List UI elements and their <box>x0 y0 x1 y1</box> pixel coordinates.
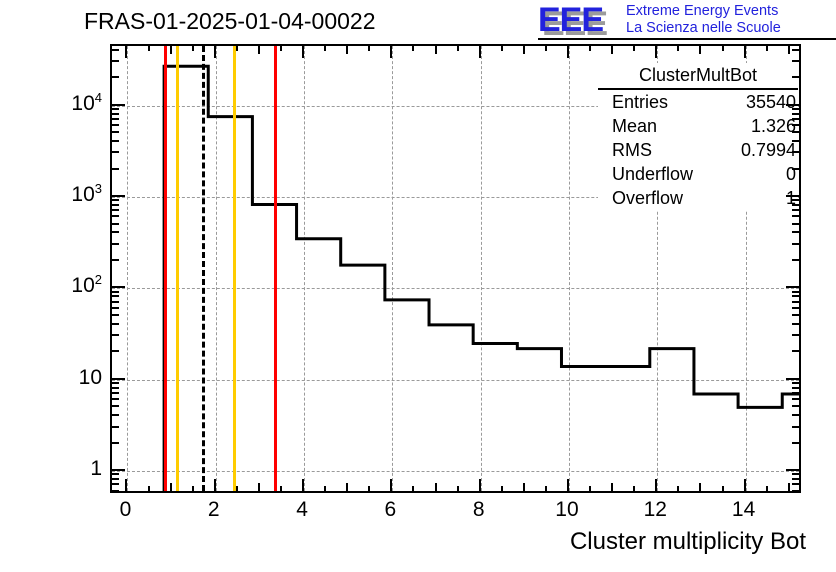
x-tick-label: 6 <box>385 499 397 521</box>
stats-row-key: Mean <box>612 115 657 137</box>
x-tick-top-minor <box>258 45 260 54</box>
eee-logo: EEE EEE Extreme Energy Events La Scienza… <box>538 2 834 38</box>
x-tick-top-minor <box>545 45 547 51</box>
y-tick-right-minor <box>792 398 800 400</box>
x-tick-top-minor <box>435 45 437 54</box>
y-tick-major <box>111 195 125 197</box>
y-tick-label-exponent: 3 <box>95 181 102 196</box>
x-tick-top-major <box>214 45 216 58</box>
x-tick-label: 0 <box>120 499 132 521</box>
stats-row-value: 0 <box>786 163 796 185</box>
y-tick-right-minor <box>792 442 800 444</box>
y-tick-minor <box>111 473 119 475</box>
y-tick-minor <box>111 334 119 336</box>
x-tick-minor <box>611 483 613 492</box>
y-tick-right-minor <box>792 259 800 261</box>
x-tick-major <box>125 479 127 492</box>
x-tick-top-minor <box>170 45 172 54</box>
x-tick-minor <box>766 486 768 492</box>
x-tick-top-minor <box>501 45 503 51</box>
x-tick-minor <box>258 483 260 492</box>
stats-row-key: Overflow <box>612 187 683 209</box>
y-tick-right-major <box>786 286 800 288</box>
y-tick-right-minor <box>792 291 800 293</box>
x-tick-top-major <box>655 45 657 58</box>
eee-logo-line1: Extreme Energy Events <box>626 3 781 20</box>
y-tick-right-minor <box>792 473 800 475</box>
marker-orange-right <box>233 46 236 491</box>
y-tick-right-minor <box>792 490 800 492</box>
y-tick-right-minor <box>792 168 800 170</box>
x-tick-top-major <box>302 45 304 58</box>
x-tick-top-minor <box>523 45 525 54</box>
stats-row: RMS0.7994 <box>598 138 798 162</box>
y-tick-major <box>111 469 125 471</box>
y-tick-label: 102 <box>71 275 102 297</box>
y-tick-minor <box>111 478 119 480</box>
y-tick-label-base: 10 <box>71 92 94 115</box>
y-tick-right-minor <box>792 350 800 352</box>
y-tick-label: 103 <box>71 184 102 206</box>
stats-row-key: Entries <box>612 91 668 113</box>
eee-logo-text: Extreme Energy Events La Scienza nelle S… <box>626 3 781 37</box>
y-tick-minor <box>111 398 119 400</box>
x-tick-label: 4 <box>296 499 308 521</box>
y-tick-major <box>111 104 125 106</box>
x-tick-major <box>744 479 746 492</box>
y-tick-right-minor <box>792 223 800 225</box>
eee-logo-mark: EEE EEE <box>538 4 618 36</box>
x-tick-top-minor <box>611 45 613 54</box>
x-tick-major <box>302 479 304 492</box>
y-tick-label: 104 <box>71 93 102 115</box>
y-tick-minor <box>111 60 119 62</box>
y-tick-right-major <box>786 104 800 106</box>
y-tick-minor <box>111 314 119 316</box>
y-tick-major <box>111 286 125 288</box>
x-tick-top-minor <box>148 45 150 51</box>
y-tick-label-base: 10 <box>71 183 94 206</box>
y-tick-right-minor <box>792 204 800 206</box>
x-tick-minor <box>324 486 326 492</box>
stats-row: Overflow1 <box>598 186 798 210</box>
x-tick-minor <box>457 486 459 492</box>
marker-mean-dashed <box>202 46 205 491</box>
x-tick-top-minor <box>699 45 701 54</box>
y-tick-right-major <box>786 195 800 197</box>
y-tick-minor <box>111 140 119 142</box>
y-tick-minor <box>111 350 119 352</box>
marker-red-right <box>274 46 277 491</box>
y-tick-right-minor <box>792 307 800 309</box>
y-tick-minor <box>111 243 119 245</box>
y-tick-minor <box>111 490 119 492</box>
x-tick-minor <box>501 486 503 492</box>
stats-row-value: 1.326 <box>751 115 796 137</box>
x-tick-minor <box>589 486 591 492</box>
y-tick-minor <box>111 295 119 297</box>
y-tick-right-minor <box>792 483 800 485</box>
x-tick-minor <box>192 486 194 492</box>
x-tick-top-major <box>479 45 481 58</box>
x-tick-minor <box>236 486 238 492</box>
stats-row-value: 0.7994 <box>741 139 796 161</box>
y-tick-right-minor <box>792 426 800 428</box>
x-tick-top-minor <box>766 45 768 51</box>
y-tick-minor <box>111 209 119 211</box>
x-tick-major <box>567 479 569 492</box>
x-tick-minor <box>280 486 282 492</box>
x-tick-minor <box>633 486 635 492</box>
x-tick-minor <box>368 486 370 492</box>
y-tick-minor <box>111 151 119 153</box>
stats-row: Underflow0 <box>598 162 798 186</box>
y-tick-right-minor <box>792 131 800 133</box>
y-tick-minor <box>111 405 119 407</box>
page-title: FRAS-01-2025-01-04-00022 <box>84 8 376 34</box>
x-tick-top-minor <box>788 45 790 54</box>
y-tick-right-minor <box>792 140 800 142</box>
y-tick-right-minor <box>792 478 800 480</box>
x-tick-top-major <box>390 45 392 58</box>
y-tick-minor <box>111 223 119 225</box>
x-tick-minor <box>148 486 150 492</box>
y-tick-right-minor <box>792 151 800 153</box>
y-tick-minor <box>111 307 119 309</box>
y-tick-right-minor <box>792 387 800 389</box>
x-tick-minor <box>788 483 790 492</box>
root-canvas: FRAS-01-2025-01-04-00022 EEE EEE Extreme… <box>0 0 836 572</box>
y-tick-right-minor <box>792 113 800 115</box>
x-tick-top-minor <box>368 45 370 51</box>
y-tick-right-minor <box>792 243 800 245</box>
x-tick-top-minor <box>589 45 591 51</box>
x-tick-minor <box>412 486 414 492</box>
x-tick-major <box>479 479 481 492</box>
x-tick-top-minor <box>324 45 326 51</box>
stats-row-value: 35540 <box>746 91 796 113</box>
x-tick-top-minor <box>677 45 679 51</box>
y-tick-right-minor <box>792 118 800 120</box>
y-tick-label-base: 10 <box>71 274 94 297</box>
y-tick-minor <box>111 387 119 389</box>
y-tick-minor <box>111 426 119 428</box>
x-tick-minor <box>545 486 547 492</box>
y-tick-right-minor <box>792 301 800 303</box>
y-tick-label: 10 <box>79 367 102 389</box>
y-tick-right-minor <box>792 414 800 416</box>
y-tick-right-minor <box>792 60 800 62</box>
y-tick-label: 1 <box>90 458 102 480</box>
y-tick-right-minor <box>792 209 800 211</box>
stats-row-key: RMS <box>612 139 652 161</box>
x-tick-minor <box>699 483 701 492</box>
y-tick-minor <box>111 215 119 217</box>
y-tick-minor <box>111 382 119 384</box>
y-tick-right-minor <box>792 334 800 336</box>
stats-row: Mean1.326 <box>598 114 798 138</box>
y-tick-minor <box>111 168 119 170</box>
x-tick-minor <box>722 486 724 492</box>
y-tick-minor <box>111 131 119 133</box>
y-tick-label-exponent: 2 <box>95 272 102 287</box>
y-tick-right-major <box>786 469 800 471</box>
x-tick-top-minor <box>192 45 194 51</box>
x-tick-major <box>655 479 657 492</box>
y-tick-right-minor <box>792 199 800 201</box>
y-tick-right-minor <box>792 323 800 325</box>
x-tick-minor <box>523 483 525 492</box>
y-tick-minor <box>111 113 119 115</box>
stats-box: ClusterMultBot Entries35540Mean1.326RMS0… <box>598 63 798 210</box>
x-tick-minor <box>170 483 172 492</box>
x-tick-top-major <box>744 45 746 58</box>
x-tick-top-minor <box>633 45 635 51</box>
stats-rows: Entries35540Mean1.326RMS0.7994Underflow0… <box>598 90 798 210</box>
y-tick-right-minor <box>792 392 800 394</box>
y-tick-minor <box>111 49 119 51</box>
y-tick-minor <box>111 301 119 303</box>
y-tick-minor <box>111 483 119 485</box>
x-tick-label: 12 <box>644 499 667 521</box>
y-tick-minor <box>111 76 119 78</box>
x-axis-title: Cluster multiplicity Bot <box>570 529 806 555</box>
x-tick-label: 8 <box>473 499 485 521</box>
x-tick-major <box>214 479 216 492</box>
x-tick-minor <box>677 486 679 492</box>
y-tick-right-minor <box>792 382 800 384</box>
logo-underline <box>538 38 836 40</box>
y-tick-right-minor <box>792 231 800 233</box>
y-tick-minor <box>111 291 119 293</box>
y-tick-major <box>111 378 125 380</box>
y-tick-minor <box>111 259 119 261</box>
y-tick-right-minor <box>792 215 800 217</box>
y-tick-right-minor <box>792 124 800 126</box>
y-tick-right-minor <box>792 49 800 51</box>
stats-row: Entries35540 <box>598 90 798 114</box>
y-tick-right-minor <box>792 108 800 110</box>
x-tick-top-minor <box>457 45 459 51</box>
x-tick-top-minor <box>412 45 414 51</box>
x-tick-top-minor <box>722 45 724 51</box>
y-tick-minor <box>111 118 119 120</box>
x-tick-label: 14 <box>732 499 755 521</box>
x-tick-top-major <box>125 45 127 58</box>
y-tick-minor <box>111 414 119 416</box>
y-tick-minor <box>111 124 119 126</box>
x-tick-label: 10 <box>555 499 578 521</box>
y-tick-minor <box>111 204 119 206</box>
y-tick-right-minor <box>792 295 800 297</box>
marker-orange-left <box>176 46 179 491</box>
eee-logo-mark-front: EEE <box>538 4 603 36</box>
x-tick-top-minor <box>280 45 282 51</box>
y-tick-minor <box>111 108 119 110</box>
y-tick-minor <box>111 323 119 325</box>
eee-logo-line2: La Scienza nelle Scuole <box>626 20 781 37</box>
x-tick-top-major <box>567 45 569 58</box>
stats-histogram-name: ClusterMultBot <box>598 63 798 90</box>
x-tick-top-minor <box>346 45 348 54</box>
x-tick-label: 2 <box>208 499 220 521</box>
y-tick-right-minor <box>792 76 800 78</box>
x-tick-major <box>390 479 392 492</box>
x-tick-minor <box>435 483 437 492</box>
y-tick-minor <box>111 231 119 233</box>
x-tick-minor <box>346 483 348 492</box>
y-tick-right-minor <box>792 405 800 407</box>
y-tick-right-minor <box>792 314 800 316</box>
y-tick-minor <box>111 442 119 444</box>
y-tick-minor <box>111 392 119 394</box>
marker-red-left <box>164 46 167 491</box>
x-tick-top-minor <box>236 45 238 51</box>
stats-row-key: Underflow <box>612 163 693 185</box>
y-tick-label-exponent: 4 <box>95 90 102 105</box>
y-tick-minor <box>111 199 119 201</box>
y-tick-right-major <box>786 378 800 380</box>
